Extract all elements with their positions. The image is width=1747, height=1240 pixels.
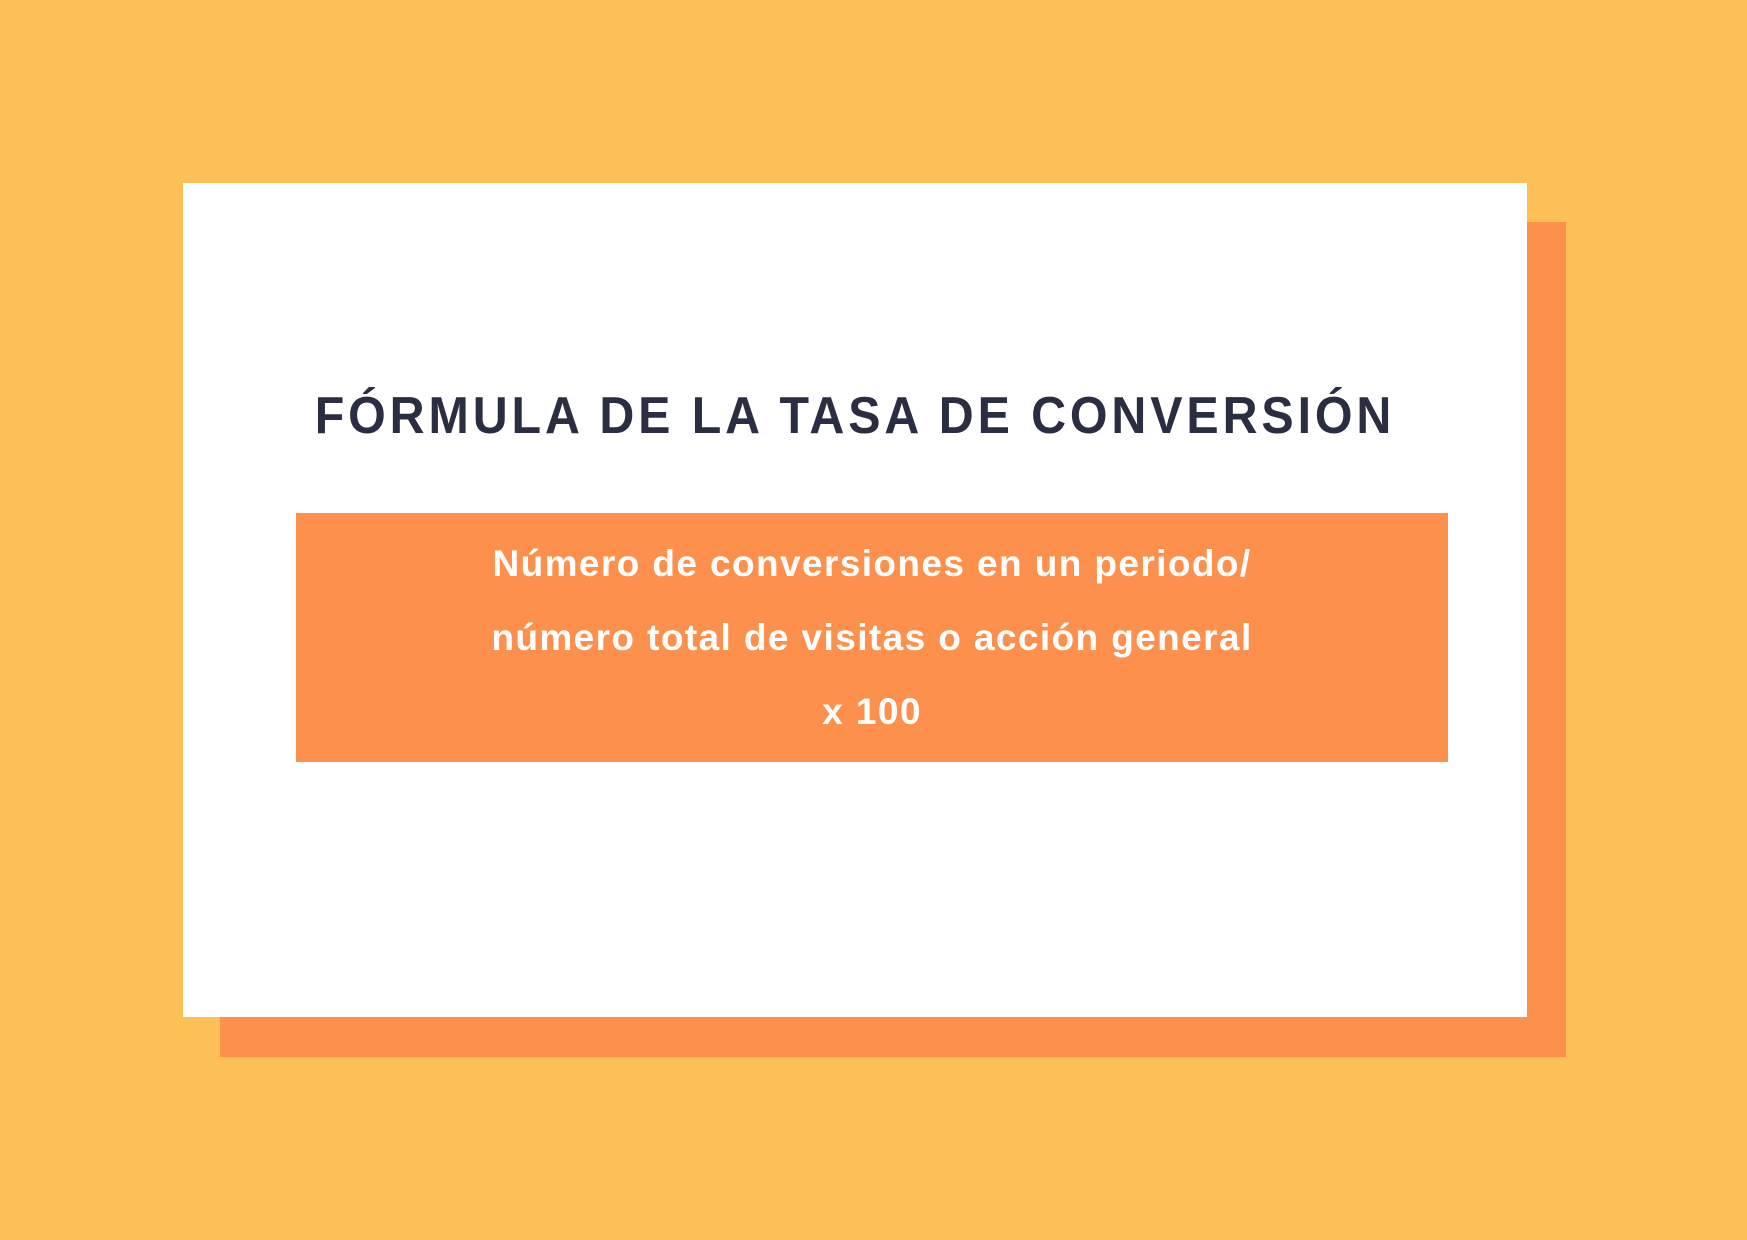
formula-highlight-box: Número de conversiones en un periodo/ nú… — [296, 513, 1448, 762]
page-title: FÓRMULA DE LA TASA DE CONVERSIÓN — [230, 388, 1480, 444]
content-card: FÓRMULA DE LA TASA DE CONVERSIÓN Número … — [183, 183, 1527, 1017]
poster-canvas: FÓRMULA DE LA TASA DE CONVERSIÓN Número … — [0, 0, 1747, 1240]
formula-line-3: x 100 — [822, 675, 922, 749]
formula-line-2: número total de visitas o acción general — [491, 601, 1252, 675]
formula-line-1: Número de conversiones en un periodo/ — [492, 527, 1251, 601]
